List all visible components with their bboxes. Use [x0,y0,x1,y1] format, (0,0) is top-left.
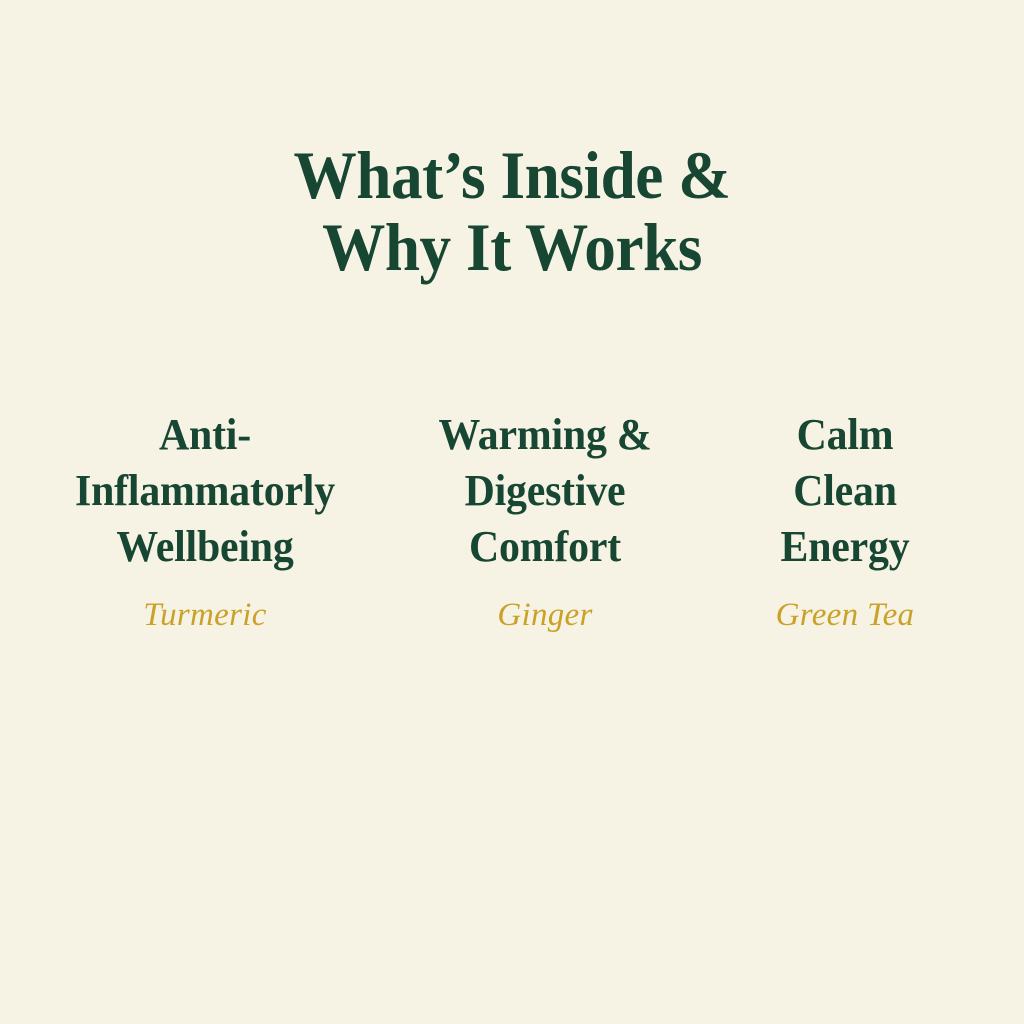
benefit-title-line-1: Anti- [48,407,362,463]
page-title-line-2: Why It Works [36,211,988,283]
benefit-title-line-3: Wellbeing [48,519,362,575]
benefit-title-ginger: Warming & Digestive Comfort [407,407,683,575]
benefit-title-line-1: Calm [726,407,964,463]
benefit-title-line-2: Clean [726,463,964,519]
benefits-columns: Anti- Inflammatorly Wellbeing Turmeric W… [40,407,984,635]
ingredient-name-ginger: Ginger [400,595,690,635]
ingredient-name-green-tea: Green Tea [720,595,970,635]
page-title-line-1: What’s Inside & [36,139,988,211]
benefit-column-green-tea: Calm Clean Energy Green Tea [720,407,970,635]
benefit-title-turmeric: Anti- Inflammatorly Wellbeing [48,407,362,575]
benefit-title-line-3: Energy [726,519,964,575]
benefit-column-turmeric: Anti- Inflammatorly Wellbeing Turmeric [40,407,370,635]
benefit-title-line-2: Inflammatorly [48,463,362,519]
benefit-title-green-tea: Calm Clean Energy [726,407,964,575]
page-title: What’s Inside & Why It Works [36,139,988,283]
ingredients-poster: What’s Inside & Why It Works Anti- Infla… [0,0,1024,1024]
ingredient-name-turmeric: Turmeric [40,595,370,635]
benefit-title-line-2: Digestive [407,463,683,519]
benefit-title-line-3: Comfort [407,519,683,575]
benefit-column-ginger: Warming & Digestive Comfort Ginger [400,407,690,635]
benefit-title-line-1: Warming & [407,407,683,463]
